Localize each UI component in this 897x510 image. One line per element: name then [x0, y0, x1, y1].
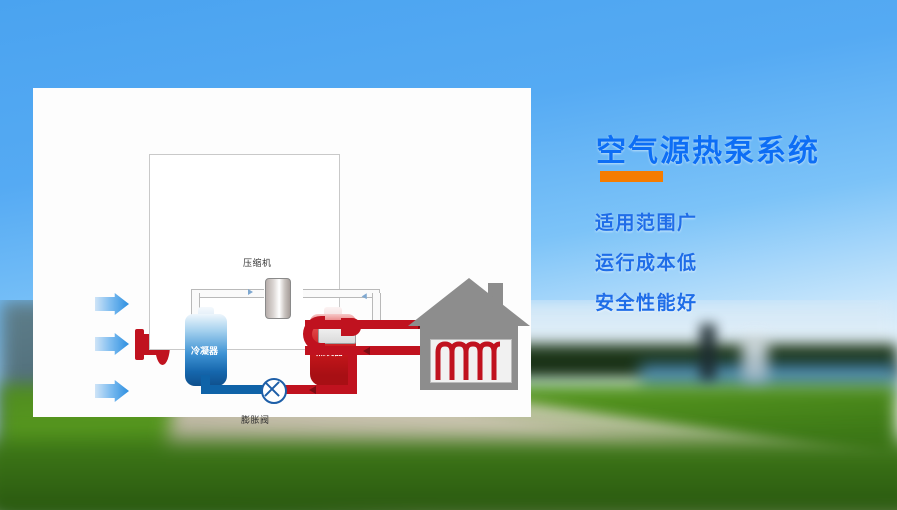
house-graphic	[408, 278, 530, 390]
slide-canvas: 压缩机 冷凝器 蒸发器 膨胀阀	[0, 0, 897, 510]
airflow-arrow-icon	[95, 380, 129, 402]
cold-flow-arrow-icon	[200, 375, 210, 383]
hot-flow-arrow-icon	[309, 386, 316, 394]
page-title: 空气源热泵系统	[596, 126, 820, 170]
condenser-label: 冷凝器	[191, 344, 218, 357]
hot-flow-arrow-icon	[363, 347, 370, 355]
bullet-item-3: 安全性能好	[595, 288, 698, 315]
house-roof	[408, 278, 530, 326]
diagram-card: 压缩机 冷凝器 蒸发器 膨胀阀	[33, 88, 531, 417]
compressor-unit	[265, 278, 291, 319]
compressor-label: 压缩机	[243, 256, 272, 269]
hot-pipe-bottom	[283, 385, 357, 394]
landscape-sign	[742, 336, 768, 382]
airflow-arrow-icon	[95, 293, 129, 315]
expansion-valve-icon	[261, 378, 287, 404]
cold-pipe-bottom	[201, 385, 263, 394]
vapor-flow-arrow-icon	[248, 289, 253, 295]
airflow-arrow-icon	[95, 333, 129, 355]
landscape-pole	[700, 324, 716, 380]
title-underline	[600, 171, 663, 182]
expansion-valve-label: 膨胀阀	[241, 413, 270, 426]
floor-heating-coil-icon	[434, 340, 506, 380]
hot-pipe-downcomer	[348, 350, 357, 390]
heat-pump-diagram: 压缩机 冷凝器 蒸发器 膨胀阀	[33, 88, 531, 417]
landscape-grass-foreground	[0, 440, 897, 510]
vapor-pipe-top-left	[191, 289, 264, 298]
bullet-item-2: 运行成本低	[595, 248, 698, 275]
bullet-item-1: 适用范围广	[595, 208, 698, 235]
